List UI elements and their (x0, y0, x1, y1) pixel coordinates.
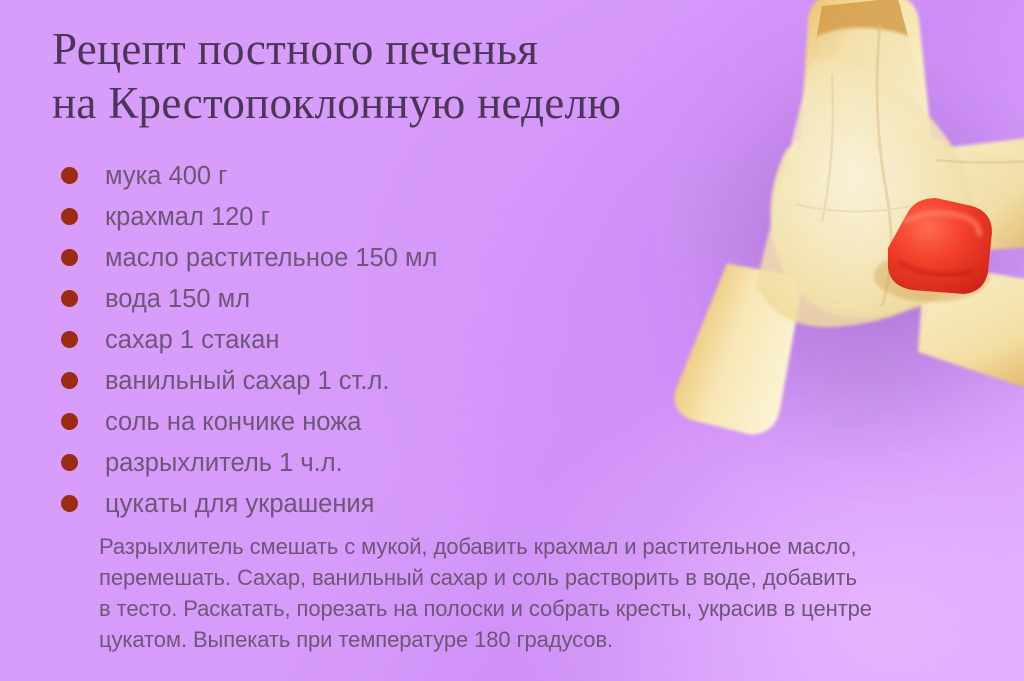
ingredient-label: вода 150 мл (105, 284, 250, 314)
page-title: Рецепт постного печенья на Крестопоклонн… (52, 22, 732, 130)
title-line-1: Рецепт постного печенья (52, 22, 732, 76)
ingredients-list: мука 400 г крахмал 120 г масло раститель… (56, 155, 656, 524)
ingredient-label: сахар 1 стакан (105, 325, 279, 355)
ingredient-label: мука 400 г (105, 161, 227, 191)
bullet-icon (61, 454, 78, 471)
bullet-icon (61, 495, 78, 512)
bullet-icon (61, 372, 78, 389)
ingredient-label: ванильный сахар 1 ст.л. (105, 366, 389, 396)
bullet-icon (61, 208, 78, 225)
bullet-icon (61, 413, 78, 430)
ingredient-label: цукаты для украшения (105, 489, 374, 519)
instruction-line: в тесто. Раскатать, порезать на полоски … (99, 593, 979, 624)
list-item: разрыхлитель 1 ч.л. (56, 442, 656, 483)
bullet-icon (61, 167, 78, 184)
instruction-line: перемешать. Сахар, ванильный сахар и сол… (99, 562, 979, 593)
instruction-line: Разрыхлитель смешать с мукой, добавить к… (99, 531, 979, 562)
bullet-icon (61, 249, 78, 266)
ingredient-label: разрыхлитель 1 ч.л. (105, 448, 343, 478)
cookie-texture (682, 12, 1024, 432)
ingredient-label: крахмал 120 г (105, 202, 270, 232)
bullet-icon (61, 331, 78, 348)
ingredient-label: соль на кончике ножа (105, 407, 361, 437)
list-item: крахмал 120 г (56, 196, 656, 237)
list-item: мука 400 г (56, 155, 656, 196)
list-item: ванильный сахар 1 ст.л. (56, 360, 656, 401)
list-item: соль на кончике ножа (56, 401, 656, 442)
title-line-2: на Крестопоклонную неделю (52, 76, 732, 130)
ingredient-label: масло растительное 150 мл (105, 243, 437, 273)
instructions-paragraph: Разрыхлитель смешать с мукой, добавить к… (99, 531, 979, 655)
instruction-line: цукатом. Выпекать при температуре 180 гр… (99, 624, 979, 655)
list-item: вода 150 мл (56, 278, 656, 319)
list-item: сахар 1 стакан (56, 319, 656, 360)
candied-fruit (874, 198, 992, 302)
list-item: цукаты для украшения (56, 483, 656, 524)
recipe-card: Рецепт постного печенья на Крестопоклонн… (0, 0, 1024, 681)
bullet-icon (61, 290, 78, 307)
list-item: масло растительное 150 мл (56, 237, 656, 278)
